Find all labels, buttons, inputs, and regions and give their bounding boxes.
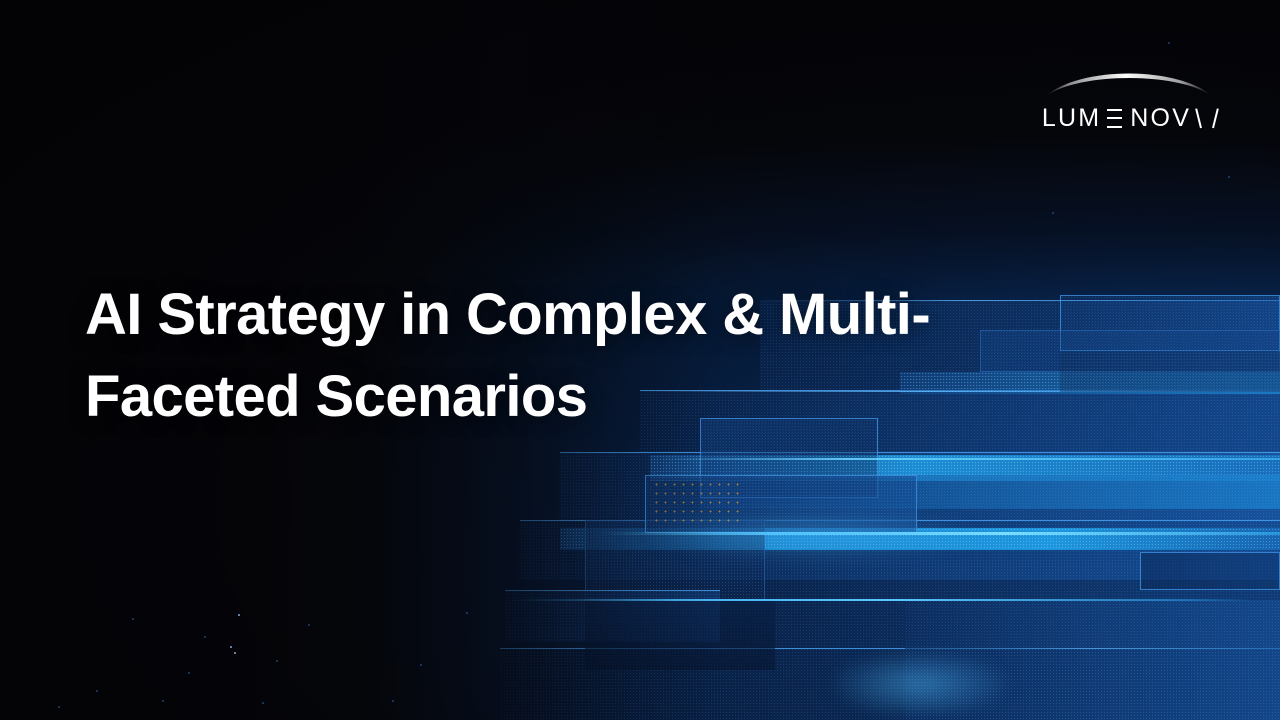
logo-glyph-e-icon (1107, 109, 1122, 128)
page-title: AI Strategy in Complex & Multi- Faceted … (85, 274, 1115, 438)
deco-light-streak (660, 458, 1280, 460)
logo-arc-icon (1040, 58, 1218, 102)
logo-text-nov: NOV (1130, 104, 1191, 132)
logo-text-lum: LUM (1042, 104, 1101, 132)
deco-glow-spot (790, 640, 1050, 720)
deco-outline-rect (1140, 552, 1280, 590)
deco-step-block (585, 600, 775, 670)
presentation-slide: AI Strategy in Complex & Multi- Faceted … (0, 0, 1280, 720)
brand-logo[interactable]: LUM NOV (1040, 58, 1218, 140)
logo-glyph-a-icon (1198, 109, 1216, 128)
logo-wordmark: LUM NOV (1040, 104, 1218, 132)
deco-light-streak (512, 599, 1252, 601)
deco-glow-spot (560, 505, 980, 565)
